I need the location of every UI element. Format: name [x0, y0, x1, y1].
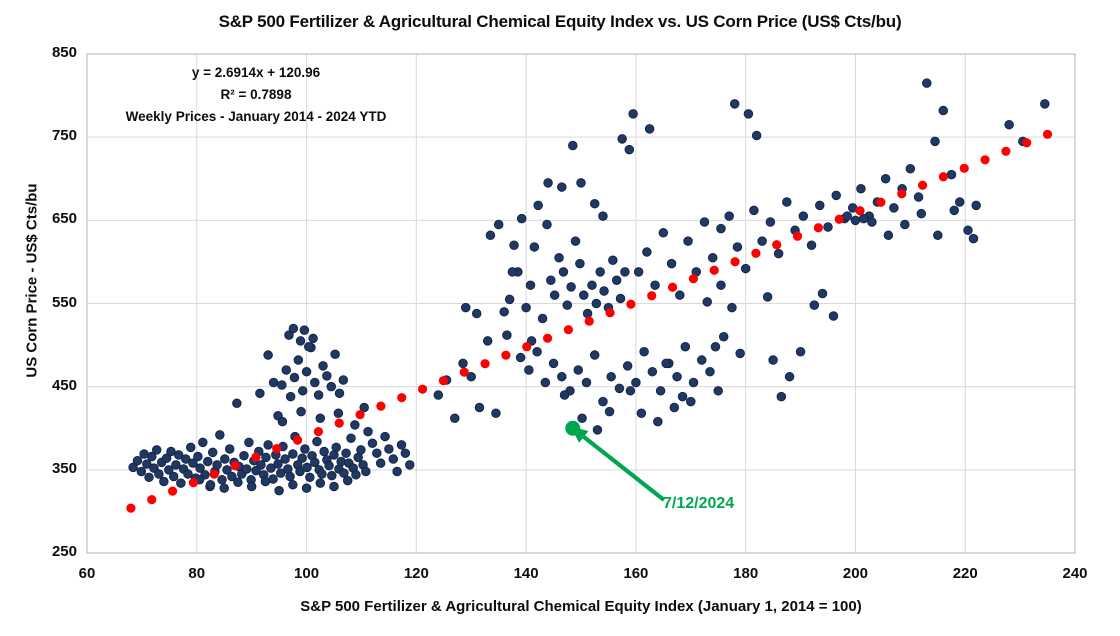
x-tick-label: 100 [280, 565, 334, 582]
x-tick-label: 80 [170, 565, 224, 582]
x-tick-label: 120 [389, 565, 443, 582]
data-points [129, 79, 1049, 495]
y-tick-label: 550 [29, 294, 77, 311]
y-tick-label: 450 [29, 377, 77, 394]
x-tick-label: 240 [1048, 565, 1102, 582]
y-tick-label: 350 [29, 460, 77, 477]
x-tick-label: 60 [60, 565, 114, 582]
x-tick-label: 140 [499, 565, 553, 582]
data-period-note: Weekly Prices - January 2014 - 2024 YTD [96, 106, 416, 128]
x-tick-label: 160 [609, 565, 663, 582]
callout-arrow [565, 421, 664, 500]
x-tick-label: 200 [828, 565, 882, 582]
x-tick-label: 220 [938, 565, 992, 582]
regression-annotation: y = 2.6914x + 120.96 R² = 0.7898 Weekly … [96, 62, 416, 128]
highlight-date-label: 7/12/2024 [663, 495, 734, 513]
y-tick-label: 750 [29, 127, 77, 144]
r-squared-value: R² = 0.7898 [96, 84, 416, 106]
y-tick-label: 650 [29, 210, 77, 227]
regression-equation: y = 2.6914x + 120.96 [96, 62, 416, 84]
chart-container: S&P 500 Fertilizer & Agricultural Chemic… [0, 0, 1120, 636]
y-tick-label: 850 [29, 44, 77, 61]
x-tick-label: 180 [719, 565, 773, 582]
y-tick-label: 250 [29, 543, 77, 560]
x-axis-title: S&P 500 Fertilizer & Agricultural Chemic… [87, 598, 1075, 615]
